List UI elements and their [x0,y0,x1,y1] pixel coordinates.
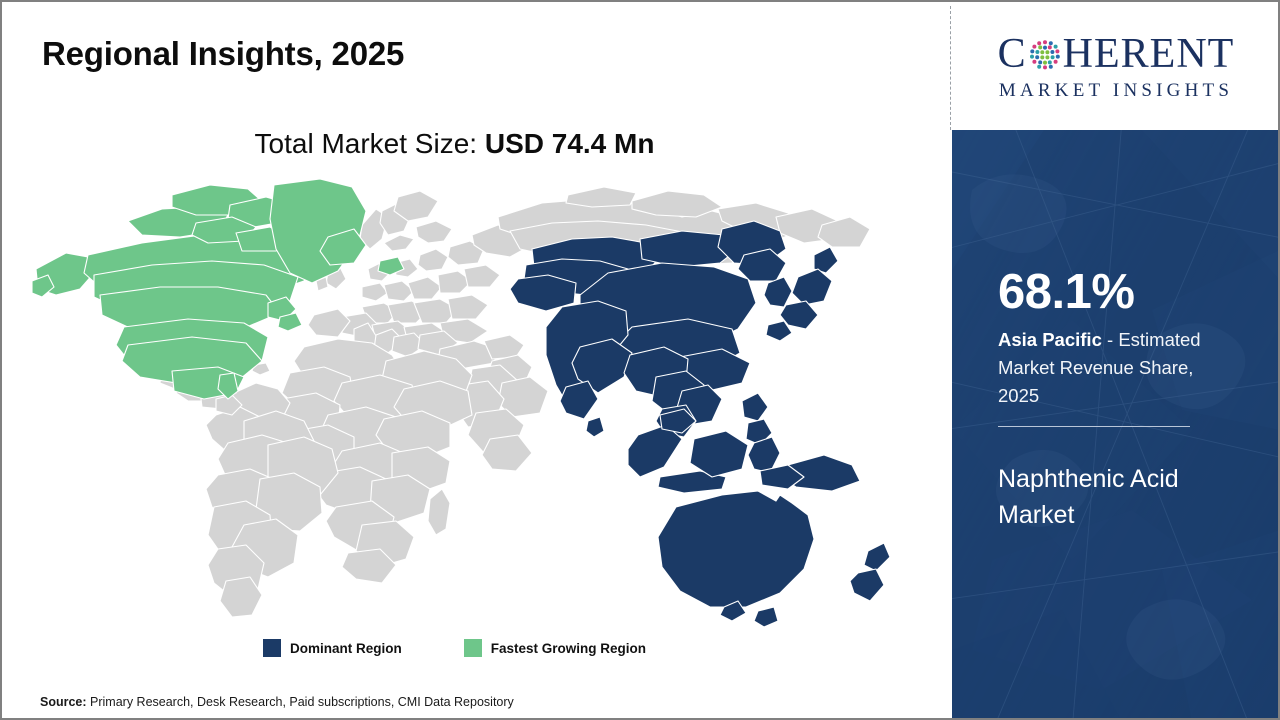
legend-label-fastest-growing: Fastest Growing Region [491,641,646,656]
left-panel: Regional Insights, 2025 Total Market Siz… [2,2,950,720]
page-title: Regional Insights, 2025 [42,35,404,73]
legend-item-dominant: Dominant Region [263,639,402,657]
legend-swatch-dominant [263,639,281,657]
right-panel: C [952,2,1280,720]
legend-item-fastest-growing: Fastest Growing Region [464,639,646,657]
legend-swatch-fastest-growing [464,639,482,657]
map-region-asia-pacific [510,221,890,627]
logo-letter-c: C [998,33,1027,75]
stat-panel: 68.1% Asia Pacific - Estimated Market Re… [952,130,1280,720]
source-text: Primary Research, Desk Research, Paid su… [87,695,514,709]
company-logo[interactable]: C [952,2,1280,130]
logo-word-herent: HERENT [1063,33,1235,75]
map-legend: Dominant Region Fastest Growing Region [2,639,907,657]
panel-divider [950,6,951,130]
source-label: Source: [40,695,87,709]
stat-percentage: 68.1% [998,268,1134,317]
world-map [32,177,892,627]
source-note: Source: Primary Research, Desk Research,… [40,695,514,709]
total-market-size: Total Market Size: USD 74.4 Mn [2,128,907,160]
dotted-sphere-icon [1028,38,1062,72]
legend-label-dominant: Dominant Region [290,641,402,656]
market-size-value: USD 74.4 Mn [485,128,655,159]
stat-description: Asia Pacific - Estimated Market Revenue … [998,326,1234,410]
stat-content: 68.1% Asia Pacific - Estimated Market Re… [998,130,1246,720]
logo-tagline: MARKET INSIGHTS [999,80,1233,102]
regional-insights-infographic: Regional Insights, 2025 Total Market Siz… [0,0,1280,720]
logo-wordmark: C [998,31,1235,77]
stat-divider-rule [998,426,1190,427]
market-size-label: Total Market Size: [255,128,478,159]
market-name: Naphthenic Acid Market [998,462,1238,533]
stat-region-name: Asia Pacific [998,329,1102,350]
